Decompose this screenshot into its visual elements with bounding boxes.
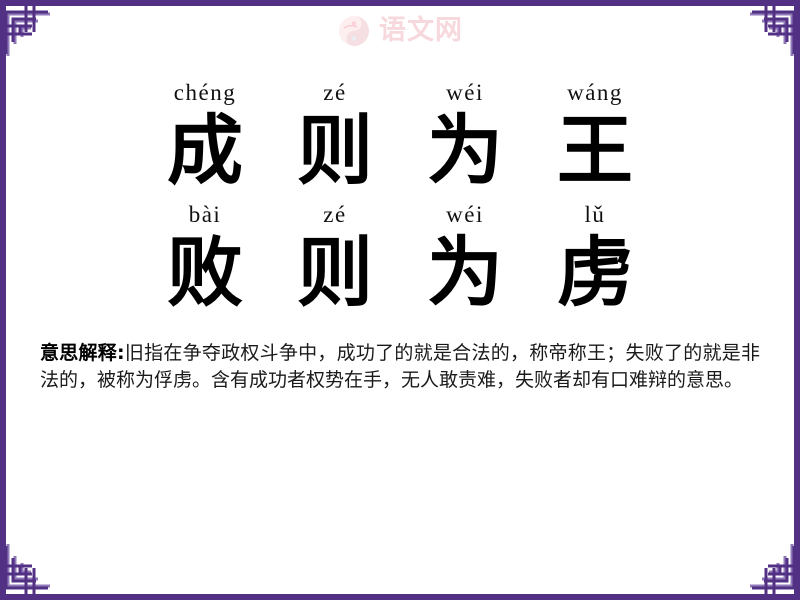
char-cell: zé 则 [291, 78, 379, 194]
char-cell: wéi 为 [421, 78, 509, 194]
pinyin: chéng [161, 78, 249, 108]
greek-key-corner-ornament-icon-top-right [740, 4, 796, 60]
idiom-line-2: bài 败 zé 则 wéi 为 lǔ 虏 [0, 200, 800, 316]
explanation-text: 旧指在争夺政权斗争中，成功了的就是合法的，称帝称王；失败了的就是非法的，被称为俘… [40, 342, 760, 391]
greek-key-corner-ornament-icon-bottom-right [740, 540, 796, 596]
hanzi: 则 [291, 108, 379, 194]
pinyin: lǔ [551, 200, 639, 230]
frame-border-top [0, 0, 800, 6]
idiom-card: 语文网 chéng 成 zé 则 wéi 为 wáng 王 bài [0, 0, 800, 600]
greek-key-corner-ornament-icon-bottom-left [4, 540, 60, 596]
char-cell: bài 败 [161, 200, 249, 316]
pinyin: zé [291, 200, 379, 230]
idiom-area: chéng 成 zé 则 wéi 为 wáng 王 bài 败 zé [0, 78, 800, 316]
pinyin: zé [291, 78, 379, 108]
hanzi: 成 [161, 108, 249, 194]
pinyin: wéi [421, 200, 509, 230]
hanzi: 为 [421, 108, 509, 194]
frame-border-right [794, 0, 800, 600]
explanation-label: 意思解释: [40, 342, 125, 364]
char-cell: lǔ 虏 [551, 200, 639, 316]
watermark: 语文网 [0, 14, 800, 48]
char-cell: zé 则 [291, 200, 379, 316]
frame-border-bottom [0, 594, 800, 600]
pinyin: wéi [421, 78, 509, 108]
char-cell: chéng 成 [161, 78, 249, 194]
hanzi: 则 [291, 230, 379, 316]
yinyang-logo-icon [337, 14, 371, 48]
hanzi: 王 [551, 108, 639, 194]
explanation-block: 意思解释:旧指在争夺政权斗争中，成功了的就是合法的，称帝称王；失败了的就是非法的… [40, 340, 760, 394]
char-cell: wáng 王 [551, 78, 639, 194]
pinyin: wáng [551, 78, 639, 108]
watermark-text: 语文网 [379, 14, 463, 48]
frame-border-left [0, 0, 6, 600]
hanzi: 虏 [551, 230, 639, 316]
hanzi: 为 [421, 230, 509, 316]
pinyin: bài [161, 200, 249, 230]
greek-key-corner-ornament-icon-top-left [4, 4, 60, 60]
idiom-line-1: chéng 成 zé 则 wéi 为 wáng 王 [0, 78, 800, 194]
hanzi: 败 [161, 230, 249, 316]
char-cell: wéi 为 [421, 200, 509, 316]
